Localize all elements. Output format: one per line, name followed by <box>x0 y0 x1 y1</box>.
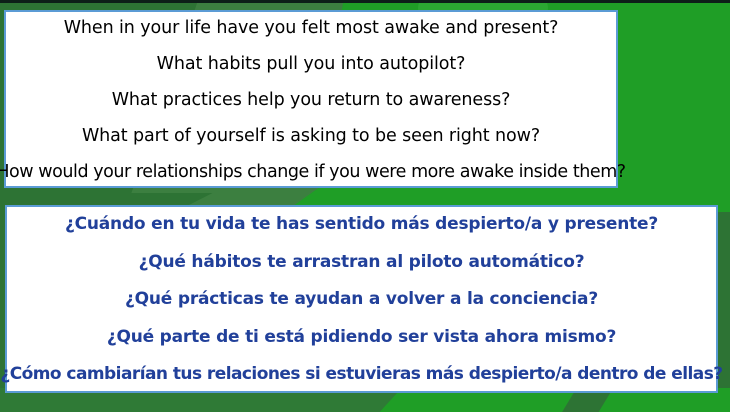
english-questions-card: When in your life have you felt most awa… <box>4 10 618 188</box>
english-question-line-3: What practices help you return to awaren… <box>112 90 511 110</box>
english-question-line-2: What habits pull you into autopilot? <box>157 54 466 74</box>
slide-canvas: When in your life have you felt most awa… <box>0 0 730 412</box>
spanish-question-line-2: ¿Qué hábitos te arrastran al piloto auto… <box>139 253 585 273</box>
spanish-questions-card: ¿Cuándo en tu vida te has sentido más de… <box>5 205 718 393</box>
spanish-question-line-3: ¿Qué prácticas te ayudan a volver a la c… <box>125 290 598 310</box>
spanish-question-line-1: ¿Cuándo en tu vida te has sentido más de… <box>65 215 658 235</box>
english-question-line-4: What part of yourself is asking to be se… <box>82 126 540 146</box>
spanish-question-line-5: ¿Cómo cambiarían tus relaciones si estuv… <box>0 365 722 385</box>
spanish-question-line-4: ¿Qué parte de ti está pidiendo ser vista… <box>107 328 616 348</box>
background-top-strip <box>0 0 730 3</box>
english-question-line-5: How would your relationships change if y… <box>0 162 626 182</box>
english-question-line-1: When in your life have you felt most awa… <box>64 18 559 38</box>
